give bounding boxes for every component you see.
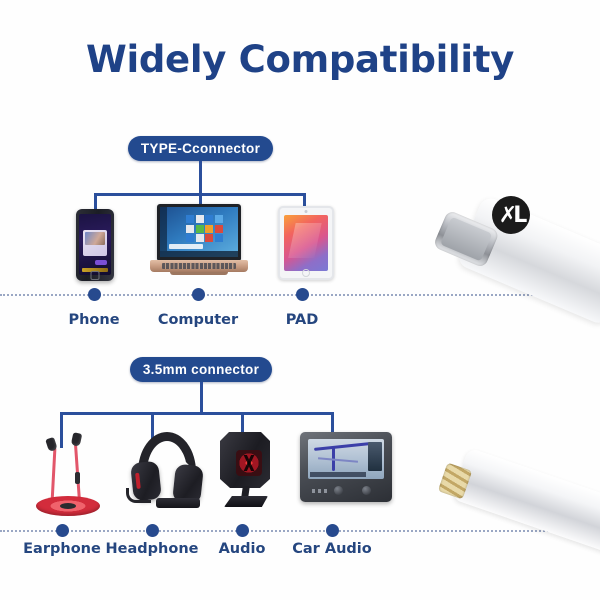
tablet-home-button: [302, 269, 310, 277]
speaker-icon: [216, 428, 276, 512]
label-car-audio: Car Audio: [282, 541, 382, 557]
label-pad: PAD: [252, 312, 352, 328]
earbuds-icon: [30, 430, 106, 516]
headset-icon: [126, 432, 212, 512]
label-audio: Audio: [192, 541, 292, 557]
phone-home-button: [91, 271, 100, 280]
car-stereo-icon: [300, 432, 392, 502]
car-stereo-knob-left: [334, 486, 343, 495]
label-headphone: Headphone: [102, 541, 202, 557]
speaker-body: [220, 432, 270, 488]
tablet-camera: [305, 210, 308, 213]
badge-type-c-connector: TYPE-Cconnector: [128, 136, 273, 161]
laptop-screen-sidebar: [160, 207, 167, 251]
nav-road: [318, 457, 358, 462]
tree-stem-top: [199, 161, 202, 195]
earbud-cable-coil: [36, 496, 100, 516]
label-earphone: Earphone: [12, 541, 112, 557]
label-phone: Phone: [44, 312, 144, 328]
tree-bus-bottom: [60, 412, 332, 415]
audio-jack-connector-photo: [430, 428, 600, 538]
brand-logo-icon: ✗L: [492, 196, 530, 234]
nav-side-panel: [368, 442, 382, 471]
smartphone-icon: [76, 209, 114, 281]
rail-dot-caraudio: [326, 524, 339, 537]
laptop-taskbar: [160, 251, 238, 257]
rail-dot-headphone: [146, 524, 159, 537]
infographic-canvas: Widely Compatibility TYPE-Cconnector: [0, 0, 600, 600]
tablet-body: [278, 206, 334, 280]
laptop-foot: [170, 272, 228, 275]
earbud-cable-left: [51, 448, 56, 502]
rail-dot-pad: [296, 288, 309, 301]
laptop-icon: [150, 204, 248, 282]
audio-jack-barrel: [451, 447, 600, 555]
tablet-icon: [278, 206, 334, 280]
earbud-right: [71, 432, 83, 447]
label-computer: Computer: [148, 312, 248, 328]
nav-status-bar: [310, 472, 366, 477]
earbud-left: [45, 437, 58, 452]
headset-stand: [156, 498, 200, 508]
phone-app-card: [83, 230, 107, 256]
car-stereo-knob-right: [362, 486, 371, 495]
windows-tiles: [186, 215, 223, 242]
rail-dot-computer: [192, 288, 205, 301]
nav-route-line: [314, 442, 370, 451]
headset-accent: [135, 473, 141, 489]
laptop-taskbar-search: [169, 244, 203, 249]
phone-body: [76, 209, 114, 281]
page-title: Widely Compatibility: [0, 38, 600, 81]
laptop-screen: [160, 207, 238, 257]
laptop-keyboard: [162, 263, 236, 269]
speaker-stand: [224, 496, 268, 507]
tablet-screen: [284, 215, 328, 271]
usb-c-connector-photo: ✗L: [418, 178, 600, 304]
phone-app-button: [95, 260, 107, 265]
rail-dot-audio: [236, 524, 249, 537]
rail-dot-earphone: [56, 524, 69, 537]
earbud-inline-control: [75, 472, 80, 484]
car-stereo-buttons: [312, 489, 328, 493]
speaker-grille: [236, 450, 262, 476]
car-stereo-navigation-screen: [308, 439, 384, 479]
headset-boom-mic: [126, 488, 151, 503]
rail-dot-phone: [88, 288, 101, 301]
tree-stem-bottom: [200, 382, 203, 414]
phone-screen: [79, 214, 111, 275]
car-stereo-frame: [300, 432, 392, 502]
laptop-lid: [157, 204, 241, 260]
badge-35mm-connector: 3.5mm connector: [130, 357, 272, 382]
